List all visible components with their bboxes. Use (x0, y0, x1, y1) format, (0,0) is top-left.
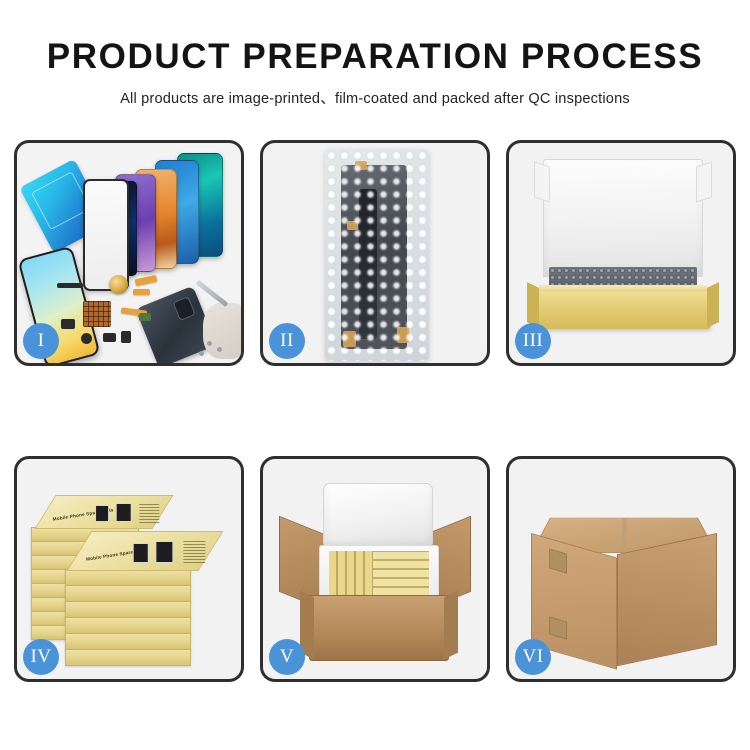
yellow-box-front-icon (535, 291, 711, 329)
step-badge-5: V (269, 639, 305, 675)
box-lid-top: Mobile Phone Spare Parts (67, 531, 224, 571)
battery-connector-icon (121, 331, 131, 343)
camera-module-icon (139, 313, 151, 321)
carton-side-right-icon (617, 533, 717, 666)
process-step-2[interactable]: II (260, 140, 490, 366)
process-step-1[interactable]: I (14, 140, 244, 366)
stacked-box (65, 617, 191, 634)
page-title: PRODUCT PREPARATION PROCESS (0, 38, 750, 76)
screw-icon (199, 351, 204, 356)
foam-cooler-lid-icon (323, 483, 433, 549)
process-step-6[interactable]: VI (506, 456, 736, 682)
box-lid-phone-image (116, 503, 132, 522)
carton-front-icon (309, 595, 449, 661)
box-lid-phone-image (133, 543, 149, 563)
stacked-box (65, 649, 191, 666)
process-step-3[interactable]: III (506, 140, 736, 366)
process-step-grid: I II III (14, 140, 736, 682)
process-step-4[interactable]: Mobile Phone Spare Parts Mobile Phone Sp… (14, 456, 244, 682)
stacked-box (65, 601, 191, 618)
stacked-box (65, 585, 191, 602)
screw-icon (217, 347, 222, 352)
box-lid-text-lines (139, 503, 159, 523)
stacked-box (65, 633, 191, 650)
box-lid-phone-image (155, 541, 173, 563)
bubble-texture-icon (325, 149, 429, 361)
page-subtitle: All products are image-printed、film-coat… (0, 87, 750, 108)
screw-icon (207, 341, 212, 346)
stacked-box (65, 569, 191, 586)
tweezers-icon (195, 280, 228, 307)
speaker-icon (81, 333, 92, 344)
page-header: PRODUCT PREPARATION PROCESS All products… (0, 0, 750, 108)
yellow-boxes-inside-icon (329, 551, 429, 595)
step-badge-2: II (269, 323, 305, 359)
box-lid-text-lines (183, 541, 205, 563)
step-badge-6: VI (515, 639, 551, 675)
component-block-icon (61, 319, 75, 329)
component-block-icon (103, 333, 116, 342)
step-badge-1: I (23, 323, 59, 359)
box-stack-group: Mobile Phone Spare Parts Mobile Phone Sp… (23, 473, 241, 673)
process-step-5[interactable]: V (260, 456, 490, 682)
copper-coil-icon (109, 275, 128, 294)
box-lid-top: Mobile Phone Spare Parts (34, 495, 173, 529)
hand-icon (203, 303, 244, 359)
bubble-wrap-package-icon (325, 149, 429, 361)
box-lid-phone-image (95, 505, 109, 522)
chip-grid-icon (83, 301, 111, 327)
component-bar-icon (57, 283, 83, 288)
flex-cable-icon (133, 289, 150, 295)
step-badge-3: III (515, 323, 551, 359)
step-badge-4: IV (23, 639, 59, 675)
flex-cable-icon (135, 275, 158, 286)
screen-glass-icon (83, 179, 129, 291)
open-box-lid-icon (543, 159, 703, 277)
